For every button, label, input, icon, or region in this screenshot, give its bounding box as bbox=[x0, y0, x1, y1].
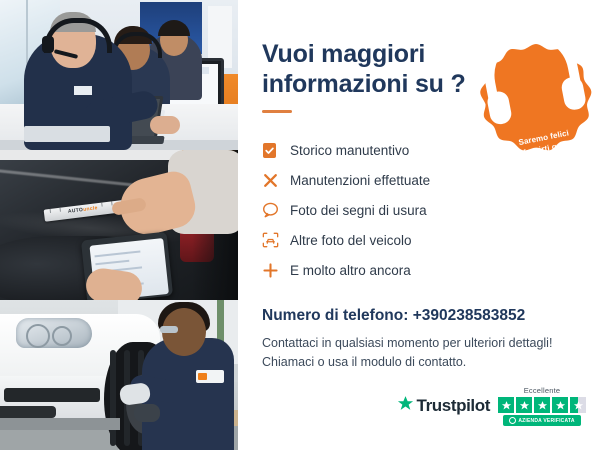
contact-subtext-line2: Chiamaci o usa il modulo di contatto. bbox=[262, 355, 466, 369]
phone-number[interactable]: +390238583852 bbox=[413, 307, 526, 324]
check-circle-icon bbox=[509, 417, 516, 424]
star-icon-half bbox=[570, 397, 586, 413]
star-icon bbox=[552, 397, 568, 413]
headset-icon bbox=[466, 10, 597, 141]
page-title-line1: Vuoi maggiori bbox=[262, 40, 425, 68]
request-info-badge: Saremo felici di fornirti queste informa… bbox=[480, 42, 592, 154]
trustpilot-name: Trustpilot bbox=[417, 396, 490, 416]
trustpilot-logo: Trustpilot bbox=[397, 395, 490, 417]
trustpilot-rating-label: Eccellente bbox=[524, 386, 561, 395]
list-item-label: Altre foto del veicolo bbox=[290, 233, 412, 248]
trustpilot-stars bbox=[498, 397, 586, 413]
plus-icon bbox=[262, 262, 290, 279]
promo-card: AUTOuncle bbox=[0, 0, 600, 450]
phone-label: Numero di telefono: bbox=[262, 307, 408, 324]
page-title: Vuoi maggiori informazioni su ? bbox=[262, 40, 477, 99]
trustpilot-rating: Eccellente bbox=[498, 386, 586, 426]
star-icon bbox=[516, 397, 532, 413]
title-divider bbox=[262, 110, 292, 113]
list-item-label: E molto altro ancora bbox=[290, 263, 411, 278]
star-icon bbox=[534, 397, 550, 413]
list-item: Altre foto del veicolo bbox=[262, 227, 600, 253]
verified-label: AZIENDA VERIFICATA bbox=[518, 418, 574, 424]
star-icon bbox=[498, 397, 514, 413]
vehicle-inspection-photo: AUTOuncle bbox=[0, 150, 238, 300]
content-panel: Vuoi maggiori informazioni su ? Saremo f… bbox=[238, 0, 600, 450]
contact-subtext: Contattaci in qualsiasi momento per ulte… bbox=[262, 334, 600, 372]
tools-cross-icon bbox=[262, 172, 290, 189]
document-check-icon bbox=[262, 142, 290, 159]
verified-business-badge: AZIENDA VERIFICATA bbox=[503, 415, 580, 426]
star-icon bbox=[397, 395, 414, 417]
list-item-label: Foto dei segni di usura bbox=[290, 203, 427, 218]
car-scan-icon bbox=[262, 232, 290, 248]
list-item: E molto altro ancora bbox=[262, 257, 600, 283]
trustpilot-widget[interactable]: Trustpilot Eccellente bbox=[397, 386, 586, 426]
phone-line: Numero di telefono: +390238583852 bbox=[262, 307, 600, 325]
list-item-label: Storico manutentivo bbox=[290, 143, 409, 158]
call-center-agents-photo bbox=[0, 0, 238, 150]
page-title-line2: informazioni su ? bbox=[262, 70, 466, 98]
list-item-label: Manutenzioni effettuate bbox=[290, 173, 430, 188]
speech-bubble-icon bbox=[262, 202, 290, 218]
photo-column: AUTOuncle bbox=[0, 0, 238, 450]
contact-subtext-line1: Contattaci in qualsiasi momento per ulte… bbox=[262, 336, 552, 350]
tyre-check-photo bbox=[0, 300, 238, 450]
list-item: Foto dei segni di usura bbox=[262, 197, 600, 223]
